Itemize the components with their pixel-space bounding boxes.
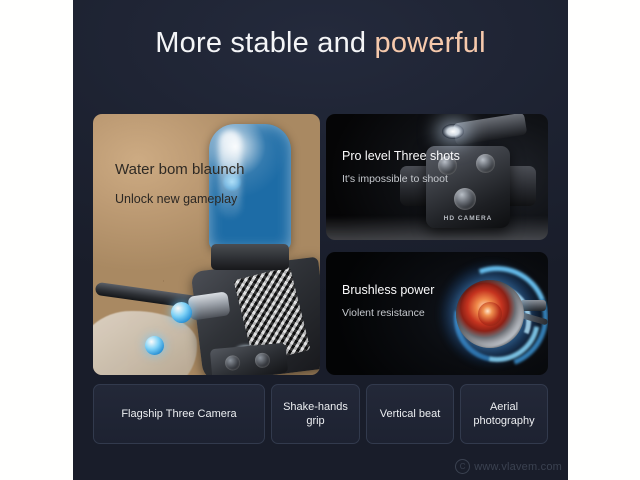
three-shots-subtitle: It's impossible to shoot: [342, 172, 460, 186]
brushless-title: Brushless power: [342, 282, 434, 298]
page-title-accent: powerful: [375, 27, 486, 59]
feature-chip-flagship-three-camera[interactable]: Flagship Three Camera: [93, 384, 265, 444]
feature-chip-vertical-beat[interactable]: Vertical beat: [366, 384, 454, 444]
copyright-icon: C: [455, 459, 470, 474]
camera-side-barrel: [506, 166, 536, 206]
camera-lens: [454, 188, 476, 210]
camera-lens: [476, 154, 495, 173]
hd-camera-label: HD CAMERA: [430, 215, 506, 222]
three-shots-copy: Pro level Three shots It's impossible to…: [342, 148, 460, 186]
water-bomb-title: Water bom blaunch: [115, 160, 245, 180]
brushless-copy: Brushless power Violent resistance: [342, 282, 434, 320]
feature-chip-shake-hands-grip[interactable]: Shake-hands grip: [271, 384, 360, 444]
feature-chip-aerial-photography[interactable]: Aerial photography: [460, 384, 548, 444]
headlamp-light-icon: [442, 124, 464, 139]
three-shots-title: Pro level Three shots: [342, 148, 460, 164]
watermark-text: www.vlavem.com: [474, 461, 562, 473]
water-bomb-copy: Water bom blaunch Unlock new gameplay: [115, 160, 245, 207]
watermark: C www.vlavem.com: [455, 459, 562, 474]
gel-ball-projectile: [171, 302, 192, 323]
water-bomb-subtitle: Unlock new gameplay: [115, 191, 245, 207]
feature-chip-row: Flagship Three Camera Shake-hands grip V…: [93, 384, 548, 444]
drone-camera-module: [210, 343, 288, 375]
motor-shaft: [520, 300, 546, 311]
motor-hub: [478, 302, 502, 326]
gel-ball-projectile: [145, 336, 164, 355]
product-promo-panel: More stable and powerful Water bom blaun…: [73, 0, 568, 480]
page-title-plain: More stable and: [155, 27, 374, 59]
feature-card-three-shots[interactable]: HD CAMERA Pro level Three shots It's imp…: [326, 114, 548, 240]
page-root: More stable and powerful Water bom blaun…: [0, 0, 640, 480]
brushless-subtitle: Violent resistance: [342, 306, 434, 320]
feature-card-brushless-power[interactable]: Brushless power Violent resistance: [326, 252, 548, 375]
feature-card-water-bomb[interactable]: Water bom blaunch Unlock new gameplay: [93, 114, 320, 375]
page-title: More stable and powerful: [73, 26, 568, 60]
magazine-cap: [211, 244, 289, 270]
